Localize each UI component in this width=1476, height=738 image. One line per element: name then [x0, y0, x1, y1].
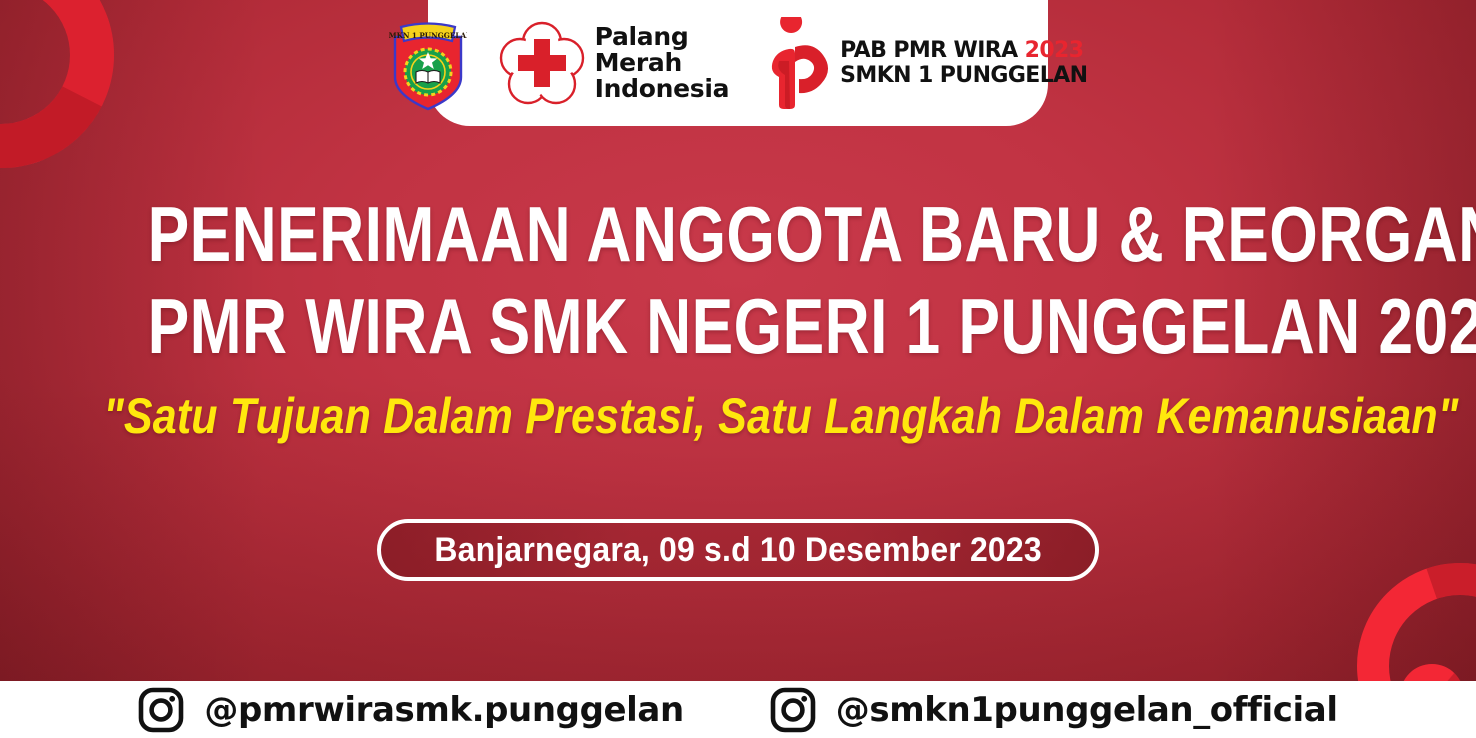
- event-line-1-main: PAB PMR WIRA: [840, 38, 1017, 63]
- pmi-flower-cross-logo: [499, 21, 585, 105]
- event-year: 2023: [1025, 38, 1084, 63]
- event-line-2: SMKN 1 PUNGGELAN: [840, 63, 1087, 88]
- event-banner: SMKN 1 PUNGGELAN: [0, 0, 1476, 738]
- pmi-logo-group: Palang Merah Indonesia: [499, 21, 730, 105]
- tagline: "Satu Tujuan Dalam Prestasi, Satu Langka…: [103, 391, 1372, 441]
- pab-pmr-person-p-logo: [765, 17, 831, 109]
- event-logo-group: PAB PMR WIRA 2023 SMKN 1 PUNGGELAN: [765, 17, 1087, 109]
- social-handle-pmrwira[interactable]: @pmrwirasmk.punggelan: [138, 687, 683, 733]
- headline-block: PENERIMAAN ANGGOTA BARU & REORGANISASI P…: [0, 196, 1476, 441]
- shield-banner-text: SMKN 1 PUNGGELAN: [389, 31, 467, 40]
- pmi-line-1: Palang: [595, 24, 730, 50]
- social-handle-text: @pmrwirasmk.punggelan: [204, 690, 683, 730]
- footer-bar: @pmrwirasmk.punggelan @smkn1punggelan_of…: [0, 681, 1476, 738]
- social-handle-smkn1[interactable]: @smkn1punggelan_official: [770, 687, 1338, 733]
- title-line-1: PENERIMAAN ANGGOTA BARU & REORGANISASI: [148, 196, 1329, 272]
- date-pill: Banjarnegara, 09 s.d 10 Desember 2023: [377, 519, 1099, 581]
- smkn-shield-logo: SMKN 1 PUNGGELAN: [389, 15, 467, 111]
- event-line-1: PAB PMR WIRA 2023: [840, 38, 1087, 63]
- date-text: Banjarnegara, 09 s.d 10 Desember 2023: [434, 531, 1041, 570]
- social-handle-text: @smkn1punggelan_official: [836, 690, 1338, 730]
- pmi-line-2: Merah: [595, 50, 730, 76]
- logo-card: SMKN 1 PUNGGELAN: [428, 0, 1048, 126]
- instagram-icon: [770, 687, 816, 733]
- instagram-icon: [138, 687, 184, 733]
- pmi-wordmark: Palang Merah Indonesia: [595, 24, 730, 101]
- pmi-line-3: Indonesia: [595, 76, 730, 102]
- title-line-2: PMR WIRA SMK NEGERI 1 PUNGGELAN 2023: [148, 288, 1329, 364]
- event-wordmark: PAB PMR WIRA 2023 SMKN 1 PUNGGELAN: [840, 38, 1087, 88]
